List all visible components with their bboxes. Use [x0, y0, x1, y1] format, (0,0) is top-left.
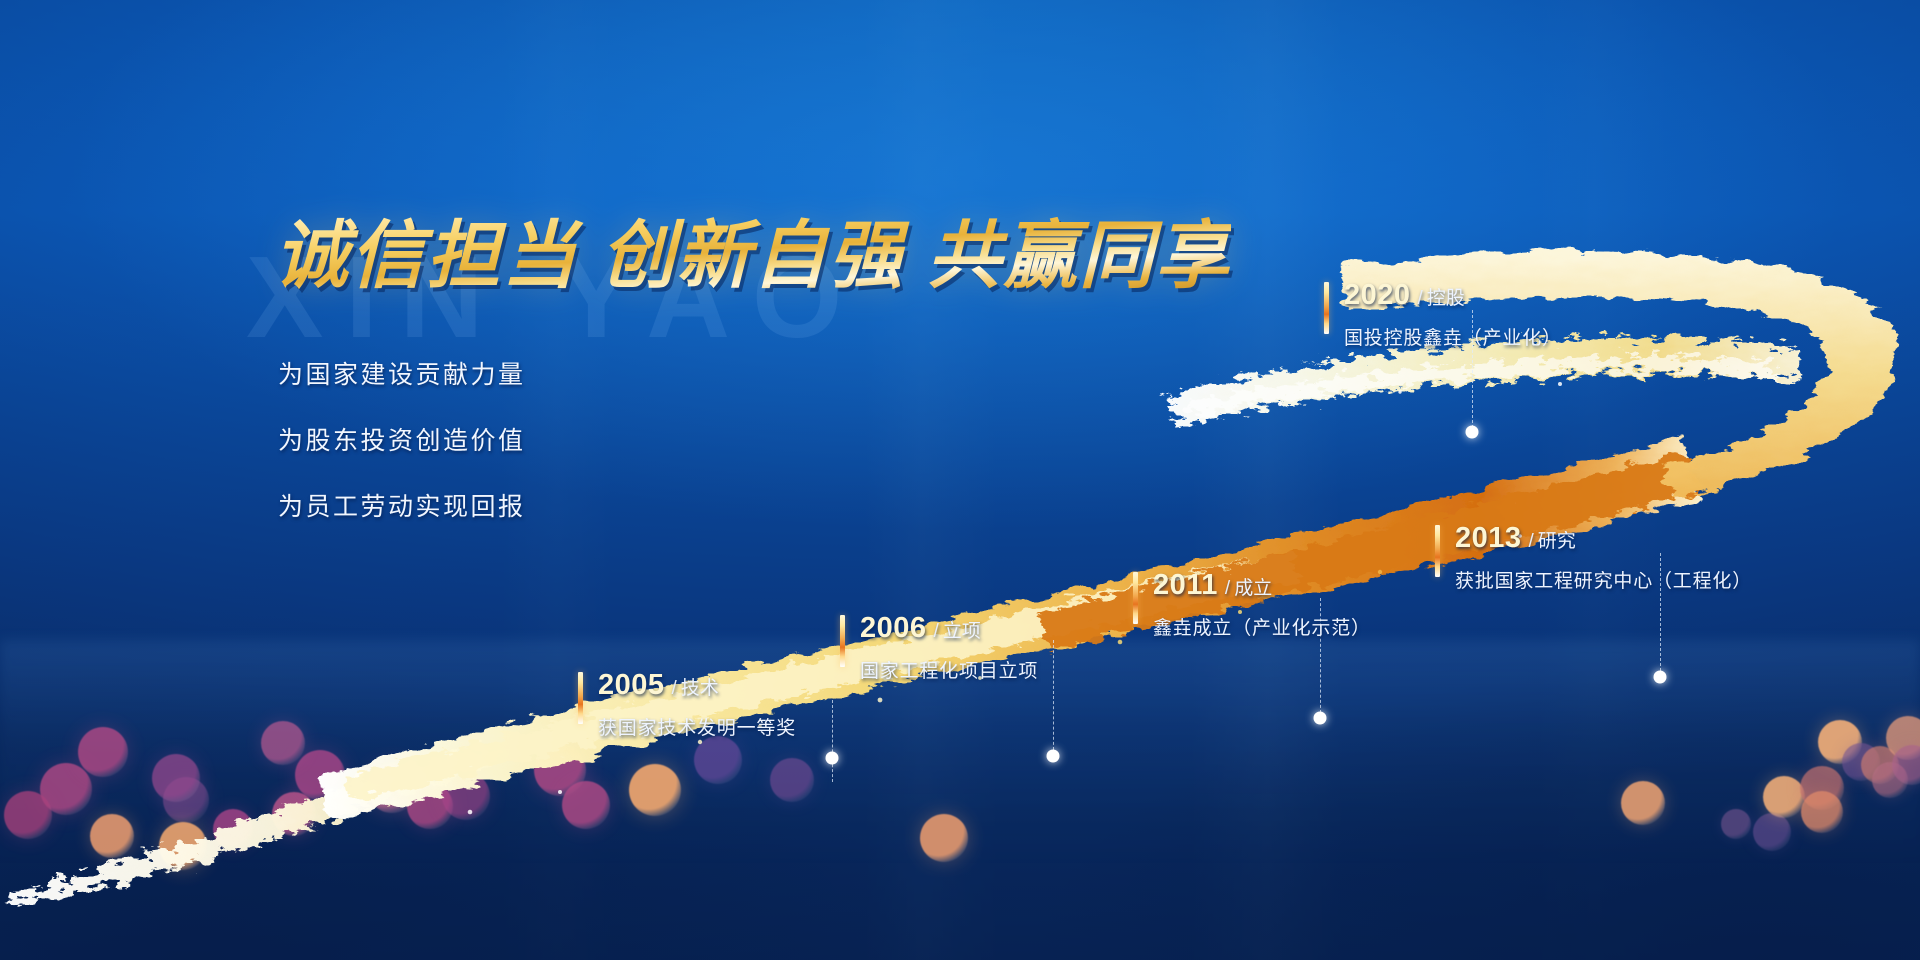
timeline-text-group: 2013/研究获批国家工程研究中心（工程化）: [1455, 522, 1752, 593]
timeline-node-dot[interactable]: [826, 752, 839, 765]
timeline-category: 立项: [943, 621, 981, 642]
timeline-accent-bar: [1435, 525, 1440, 577]
timeline-separator: /: [672, 678, 677, 699]
timeline-node-dot[interactable]: [1466, 426, 1479, 439]
timeline-category: 技术: [681, 678, 719, 699]
timeline-accent-bar: [578, 672, 583, 724]
timeline-year: 2011: [1153, 569, 1218, 601]
subtitle-line-3: 为员工劳动实现回报: [278, 487, 526, 523]
timeline-description: 获国家技术发明一等奖: [598, 713, 796, 740]
timeline-separator: /: [1418, 288, 1423, 309]
timeline-text-group: 2006/立项国家工程化项目立项: [860, 612, 1038, 683]
timeline-heading: 2005/技术: [598, 669, 796, 702]
timeline-year: 2020: [1344, 279, 1411, 311]
timeline-leader-line: [1053, 640, 1054, 750]
subtitle-line-2: 为股东投资创造价值: [278, 421, 526, 457]
timeline-separator: /: [934, 621, 939, 642]
timeline-heading: 2013/研究: [1455, 522, 1752, 555]
timeline-category: 研究: [1538, 531, 1576, 552]
timeline-description: 国家工程化项目立项: [860, 656, 1038, 683]
timeline-separator: /: [1225, 578, 1230, 599]
banner-canvas: XIN YAO 诚信担当 创新自强 共赢同享 为国家建设贡献力量 为股东投资创造…: [0, 0, 1920, 960]
timeline-category: 成立: [1234, 578, 1272, 599]
timeline-accent-bar: [1133, 572, 1138, 624]
timeline-heading: 2011/成立: [1153, 569, 1371, 602]
headline-block: XIN YAO 诚信担当 创新自强 共赢同享: [274, 196, 1234, 306]
page-title: 诚信担当 创新自强 共赢同享: [274, 196, 1231, 303]
timeline-description: 鑫垚成立（产业化示范）: [1153, 613, 1371, 640]
timeline-heading: 2020/控股: [1344, 279, 1562, 312]
timeline-heading: 2006/立项: [860, 612, 1038, 645]
timeline-text-group: 2011/成立鑫垚成立（产业化示范）: [1153, 569, 1371, 640]
timeline-node-dot[interactable]: [1047, 750, 1060, 763]
subtitle-list: 为国家建设贡献力量 为股东投资创造价值 为员工劳动实现回报: [278, 355, 526, 553]
ribbon-upper-wisp: [1166, 338, 1800, 426]
timeline-category: 控股: [1427, 288, 1465, 309]
timeline-description: 获批国家工程研究中心（工程化）: [1455, 566, 1752, 593]
timeline-leader-line: [832, 700, 833, 782]
timeline-year: 2005: [598, 669, 665, 701]
timeline-node-dot[interactable]: [1314, 712, 1327, 725]
timeline-separator: /: [1529, 531, 1534, 552]
ribbon-speckles: [468, 382, 1562, 814]
timeline-year: 2006: [860, 612, 927, 644]
timeline-accent-bar: [1324, 282, 1329, 334]
timeline-year: 2013: [1455, 522, 1522, 554]
timeline-accent-bar: [840, 615, 845, 667]
subtitle-line-1: 为国家建设贡献力量: [278, 355, 526, 391]
timeline-text-group: 2020/控股国投控股鑫垚（产业化）: [1344, 279, 1562, 350]
timeline-description: 国投控股鑫垚（产业化）: [1344, 323, 1562, 350]
timeline-text-group: 2005/技术获国家技术发明一等奖: [598, 669, 796, 740]
timeline-node-dot[interactable]: [1654, 671, 1667, 684]
